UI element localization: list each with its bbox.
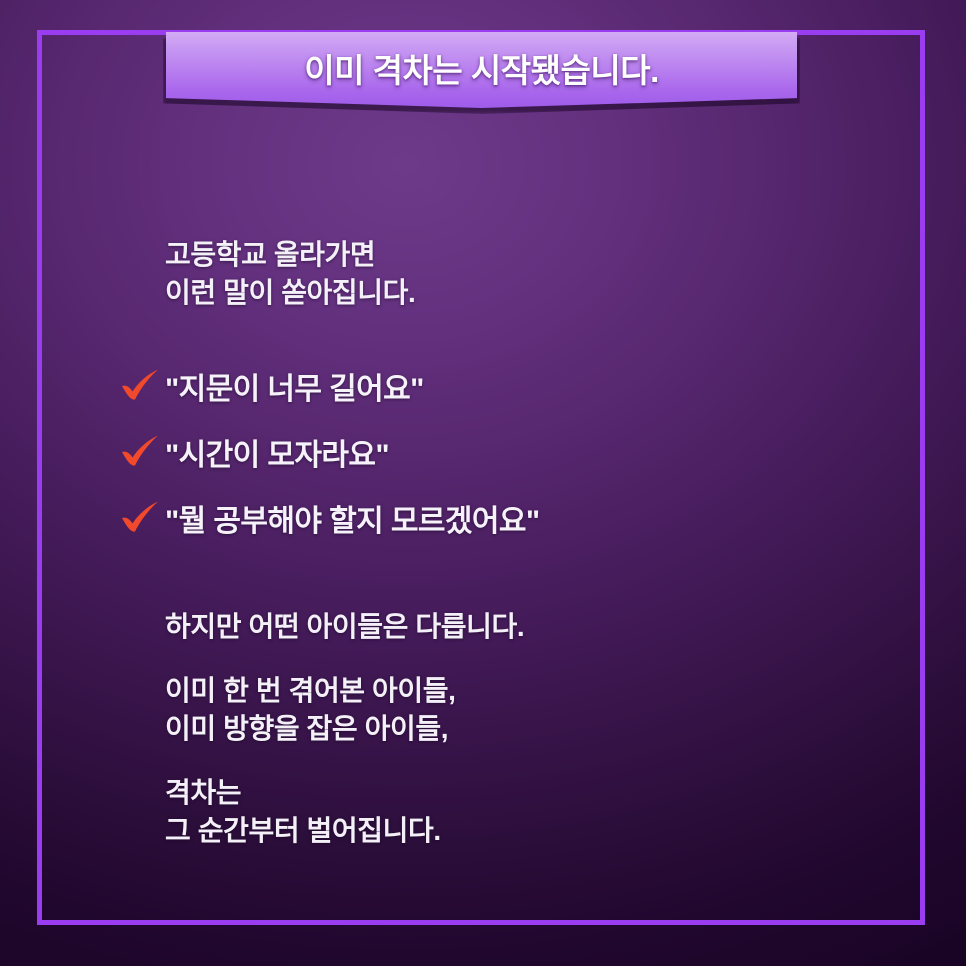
- complaint-checklist: "지문이 너무 길어요" "시간이 모자라요" "뭘 공부해야 할지 모르겠어요…: [119, 370, 879, 542]
- ribbon-banner: 이미 격차는 시작됐습니다.: [166, 32, 797, 108]
- list-item: "뭘 공부해야 할지 모르겠어요": [119, 502, 879, 542]
- spacer: [119, 312, 879, 370]
- promo-card: 이미 격차는 시작됐습니다. 고등학교 올라가면 이런 말이 쏟아집니다. "지…: [0, 0, 966, 966]
- list-item-label: "뭘 공부해야 할지 모르겠어요": [165, 502, 539, 542]
- page-title: 이미 격차는 시작됐습니다.: [304, 44, 658, 92]
- check-icon: [119, 499, 165, 539]
- examples-paragraph: 이미 한 번 겪어본 아이들, 이미 방향을 잡은 아이들,: [119, 672, 879, 748]
- check-icon: [119, 433, 165, 473]
- content-body: 고등학교 올라가면 이런 말이 쏟아집니다. "지문이 너무 길어요" "시간이…: [119, 236, 879, 850]
- list-item: "시간이 모자라요": [119, 436, 879, 476]
- conclusion-paragraph: 격차는 그 순간부터 벌어집니다.: [119, 774, 879, 850]
- check-icon: [119, 367, 165, 407]
- header-ribbon: 이미 격차는 시작됐습니다.: [166, 32, 797, 112]
- intro-paragraph: 고등학교 올라가면 이런 말이 쏟아집니다.: [119, 236, 879, 312]
- spacer: [119, 748, 879, 774]
- spacer: [119, 646, 879, 672]
- list-item-label: "지문이 너무 길어요": [165, 370, 424, 410]
- list-item: "지문이 너무 길어요": [119, 370, 879, 410]
- spacer: [119, 568, 879, 608]
- list-item-label: "시간이 모자라요": [165, 436, 389, 476]
- contrast-paragraph: 하지만 어떤 아이들은 다릅니다.: [119, 608, 879, 646]
